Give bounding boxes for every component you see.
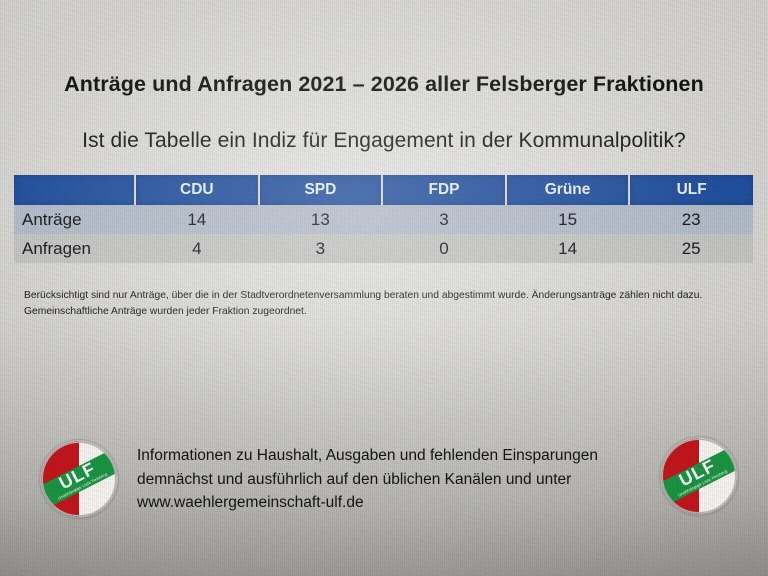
- slide-title: Anträge und Anfragen 2021 – 2026 aller F…: [0, 72, 768, 97]
- cell-antraege-ulf: 23: [629, 205, 753, 234]
- bottom-info-text: Informationen zu Haushalt, Ausgaben und …: [137, 444, 647, 515]
- table-body: Anträge 14 13 3 15 23 Anfragen 4 3 0 14 …: [14, 205, 753, 263]
- cell-anfragen-gruene: 14: [506, 234, 630, 263]
- table-header-row: CDU SPD FDP Grüne ULF: [14, 175, 753, 205]
- column-header-spd: SPD: [259, 175, 383, 205]
- cell-antraege-gruene: 15: [506, 205, 630, 234]
- statistics-table: CDU SPD FDP Grüne ULF Anträge 14 13 3 15…: [14, 175, 753, 263]
- cell-anfragen-fdp: 0: [382, 234, 506, 263]
- column-header-fdp: FDP: [382, 175, 506, 205]
- table: CDU SPD FDP Grüne ULF Anträge 14 13 3 15…: [14, 175, 753, 263]
- cell-antraege-cdu: 14: [135, 205, 259, 234]
- slide-subtitle: Ist die Tabelle ein Indiz für Engagement…: [0, 129, 768, 153]
- row-label-anfragen: Anfragen: [14, 234, 135, 263]
- column-header-cdu: CDU: [135, 175, 259, 205]
- column-header-ulf: ULF: [629, 175, 753, 205]
- table-row: Anträge 14 13 3 15 23: [14, 205, 753, 234]
- table-header: CDU SPD FDP Grüne ULF: [14, 175, 753, 205]
- row-label-antraege: Anträge: [14, 205, 135, 234]
- cell-anfragen-cdu: 4: [135, 234, 259, 263]
- cell-anfragen-spd: 3: [259, 234, 383, 263]
- cell-antraege-fdp: 3: [382, 205, 506, 234]
- cell-anfragen-ulf: 25: [629, 234, 753, 263]
- ulf-logo-icon: ULF Unabhängige Liste Felsberg: [660, 437, 738, 515]
- presentation-slide: Anträge und Anfragen 2021 – 2026 aller F…: [0, 0, 768, 576]
- table-row: Anfragen 4 3 0 14 25: [14, 234, 753, 263]
- ulf-logo-icon: ULF Unabhängige Liste Felsberg: [40, 440, 118, 518]
- cell-antraege-spd: 13: [259, 205, 383, 234]
- column-header-gruene: Grüne: [506, 175, 630, 205]
- table-footnote: Berücksichtigt sind nur Anträge, über di…: [24, 288, 738, 320]
- table-corner-cell: [14, 175, 135, 205]
